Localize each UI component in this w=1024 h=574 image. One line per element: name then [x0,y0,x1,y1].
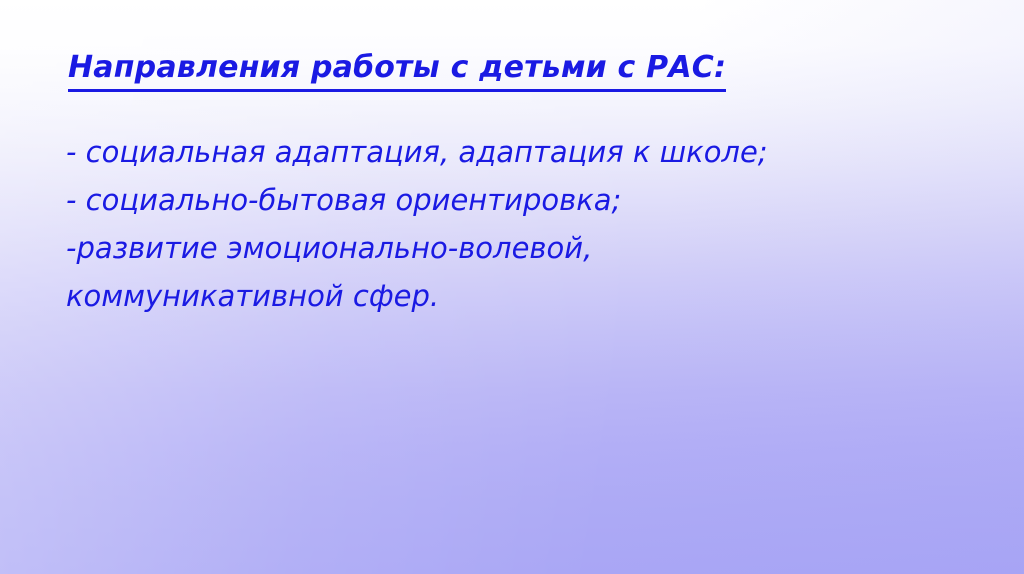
slide-title-block: Направления работы с детьми с РАС: [68,50,948,92]
body-line-4: коммуникативной сфер. [66,272,966,320]
presentation-slide: Направления работы с детьми с РАС: - соц… [0,0,1024,574]
slide-body-block: - социальная адаптация, адаптация к школ… [66,128,966,320]
body-line-3: -развитие эмоционально-волевой, [66,224,966,272]
slide-title: Направления работы с детьми с РАС: [68,50,726,92]
slide-content: Направления работы с детьми с РАС: - соц… [0,0,1024,574]
body-line-1: - социальная адаптация, адаптация к школ… [66,128,966,176]
body-line-2: - социально-бытовая ориентировка; [66,176,966,224]
